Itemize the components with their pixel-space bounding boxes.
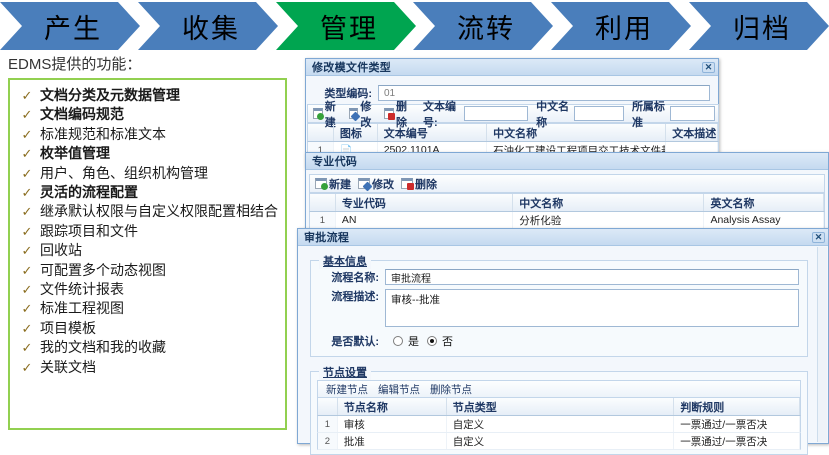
node-toolbar-button[interactable]: 删除节点 <box>430 382 472 397</box>
feature-item: ✓文档编码规范 <box>14 105 281 124</box>
feature-item-label: 关联文档 <box>40 358 281 377</box>
delete-icon <box>384 108 394 119</box>
check-icon: ✓ <box>14 105 40 124</box>
new-icon <box>313 108 323 119</box>
feature-item: ✓关联文档 <box>14 358 281 377</box>
process-step-1: 产生 <box>0 2 140 50</box>
radio-no-label: 否 <box>442 333 453 349</box>
edit-button-label: 修改 <box>372 176 394 192</box>
feature-item: ✓跟踪项目和文件 <box>14 222 281 241</box>
check-icon: ✓ <box>14 241 40 260</box>
feature-item: ✓标准规范和标准文本 <box>14 125 281 144</box>
check-icon: ✓ <box>14 299 40 318</box>
column-header[interactable]: 节点名称 <box>338 398 447 415</box>
process-step-label: 利用 <box>589 7 653 46</box>
file-type-toolbar[interactable]: 新建 修改 删除 文本编号: 中文名称 所属标准 <box>307 104 719 123</box>
table-row[interactable]: 2批准自定义一票通过/一票否决 <box>317 433 801 450</box>
check-icon: ✓ <box>14 319 40 338</box>
table-cell: 自定义 <box>447 433 675 449</box>
node-header: 节点名称节点类型判断规则 <box>317 397 801 416</box>
column-header[interactable] <box>310 194 336 211</box>
features-panel: EDMS提供的功能： ✓文档分类及元数据管理✓文档编码规范✓标准规范和标准文本✓… <box>8 56 293 430</box>
dialog-specialty-title: 专业代码 <box>312 153 825 169</box>
feature-item: ✓回收站 <box>14 241 281 260</box>
process-step-4: 流转 <box>413 2 553 50</box>
node-toolbar-button[interactable]: 新建节点 <box>326 382 368 397</box>
feature-item-label: 跟踪项目和文件 <box>40 222 281 241</box>
column-header[interactable]: 中文名称 <box>487 124 666 141</box>
dialog-workflow-titlebar[interactable]: 审批流程 ✕ <box>298 229 828 246</box>
delete-button[interactable]: 删除 <box>399 176 439 192</box>
flow-name-label: 流程名称: <box>319 269 385 285</box>
column-header[interactable] <box>308 124 334 141</box>
specialty-toolbar[interactable]: 新建 修改 删除 <box>309 174 825 193</box>
dialog-file-type-titlebar[interactable]: 修改模文件类型 ✕ <box>306 59 718 76</box>
vertical-scrollbar[interactable] <box>817 247 827 442</box>
close-icon[interactable]: ✕ <box>812 232 825 243</box>
process-step-5: 利用 <box>551 2 691 50</box>
table-cell: AN <box>336 212 513 228</box>
edit-button[interactable]: 修改 <box>356 176 396 192</box>
column-header[interactable]: 专业代码 <box>336 194 513 211</box>
dialog-workflow[interactable]: 审批流程 ✕ 基本信息 流程名称: 审批流程 流程描述: 审核--批准 是否默认… <box>297 228 829 444</box>
dialog-file-type-title: 修改模文件类型 <box>312 59 702 75</box>
table-cell: 1 <box>310 212 336 228</box>
check-icon: ✓ <box>14 280 40 299</box>
basic-info-group: 基本信息 流程名称: 审批流程 流程描述: 审核--批准 是否默认: 是 否 <box>310 260 808 357</box>
column-header[interactable]: 判断规则 <box>674 398 800 415</box>
node-toolbar[interactable]: 新建节点编辑节点删除节点 <box>317 380 801 397</box>
check-icon: ✓ <box>14 86 40 105</box>
feature-item: ✓用户、角色、组织机构管理 <box>14 164 281 183</box>
feature-item-label: 我的文档和我的收藏 <box>40 338 281 357</box>
new-button[interactable]: 新建 <box>313 176 353 192</box>
feature-item-label: 回收站 <box>40 241 281 260</box>
column-header[interactable]: 文本编号 <box>378 124 487 141</box>
table-row[interactable]: 1审核自定义一票通过/一票否决 <box>317 416 801 433</box>
specialty-grid[interactable]: 专业代码中文名称英文名称1AN分析化验Analysis Assay <box>309 193 825 229</box>
feature-list: ✓文档分类及元数据管理✓文档编码规范✓标准规范和标准文本✓枚举值管理✓用户、角色… <box>8 78 287 430</box>
flow-desc-label: 流程描述: <box>319 289 385 305</box>
check-icon: ✓ <box>14 261 40 280</box>
table-cell: 1 <box>318 416 338 432</box>
feature-item-label: 项目模板 <box>40 319 281 338</box>
feature-item-label: 文档编码规范 <box>40 105 281 124</box>
dialog-specialty-titlebar[interactable]: 专业代码 <box>306 153 828 170</box>
edit-icon <box>349 108 359 119</box>
check-icon: ✓ <box>14 338 40 357</box>
node-grid[interactable]: 节点名称节点类型判断规则1审核自定义一票通过/一票否决2批准自定义一票通过/一票… <box>317 397 801 450</box>
check-icon: ✓ <box>14 183 40 202</box>
feature-item-label: 灵活的流程配置 <box>40 183 281 202</box>
feature-item: ✓可配置多个动态视图 <box>14 261 281 280</box>
feature-item: ✓文档分类及元数据管理 <box>14 86 281 105</box>
column-header[interactable]: 中文名称 <box>513 194 704 211</box>
is-default-label: 是否默认: <box>319 333 385 349</box>
feature-item-label: 标准工程视图 <box>40 299 281 318</box>
column-header[interactable] <box>318 398 338 415</box>
feature-item: ✓我的文档和我的收藏 <box>14 338 281 357</box>
process-step-label: 流转 <box>451 7 515 46</box>
feature-item-label: 枚举值管理 <box>40 144 281 163</box>
check-icon: ✓ <box>14 222 40 241</box>
flow-name-input[interactable]: 审批流程 <box>385 269 799 285</box>
process-step-label: 收集 <box>176 7 240 46</box>
feature-item: ✓枚举值管理 <box>14 144 281 163</box>
process-step-2: 收集 <box>138 2 278 50</box>
node-settings-group: 节点设置 新建节点编辑节点删除节点 节点名称节点类型判断规则1审核自定义一票通过… <box>310 371 808 455</box>
specialty-header: 专业代码中文名称英文名称 <box>309 193 825 212</box>
check-icon: ✓ <box>14 144 40 163</box>
feature-item-label: 用户、角色、组织机构管理 <box>40 164 281 183</box>
check-icon: ✓ <box>14 358 40 377</box>
table-cell: 2 <box>318 433 338 449</box>
feature-item: ✓项目模板 <box>14 319 281 338</box>
radio-no-circle[interactable] <box>427 336 437 346</box>
node-settings-legend: 节点设置 <box>319 364 371 380</box>
radio-no[interactable]: 否 <box>427 333 453 349</box>
delete-button-label: 删除 <box>415 176 437 192</box>
feature-item: ✓继承默认权限与自定义权限配置相结合 <box>14 202 281 221</box>
feature-item-label: 标准规范和标准文本 <box>40 125 281 144</box>
feature-item: ✓文件统计报表 <box>14 280 281 299</box>
new-button-label: 新建 <box>329 176 351 192</box>
node-toolbar-button[interactable]: 编辑节点 <box>378 382 420 397</box>
column-header[interactable]: 图标 <box>334 124 378 141</box>
check-icon: ✓ <box>14 125 40 144</box>
table-cell: 一票通过/一票否决 <box>674 416 800 432</box>
file-type-header: 图标文本编号中文名称文本描述 <box>307 123 719 142</box>
process-banner: 产生收集管理流转利用归档 <box>0 2 829 52</box>
dialog-workflow-title: 审批流程 <box>304 229 812 245</box>
column-header[interactable]: 英文名称 <box>704 194 824 211</box>
cn-name-input[interactable] <box>574 106 624 121</box>
basic-info-legend: 基本信息 <box>319 253 371 269</box>
feature-item: ✓标准工程视图 <box>14 299 281 318</box>
text-no-input[interactable] <box>464 106 528 121</box>
column-header[interactable]: 文本描述 <box>666 124 718 141</box>
feature-item: ✓灵活的流程配置 <box>14 183 281 202</box>
feature-item-label: 文件统计报表 <box>40 280 281 299</box>
process-step-3: 管理 <box>276 2 416 50</box>
table-cell: 一票通过/一票否决 <box>674 433 800 449</box>
check-icon: ✓ <box>14 202 40 221</box>
delete-icon <box>401 178 413 189</box>
table-cell: 自定义 <box>447 416 675 432</box>
table-row[interactable]: 1AN分析化验Analysis Assay <box>309 212 825 229</box>
table-cell: Analysis Assay <box>704 212 824 228</box>
check-icon: ✓ <box>14 164 40 183</box>
standard-input[interactable] <box>670 106 715 121</box>
process-step-6: 归档 <box>689 2 829 50</box>
table-cell: 分析化验 <box>513 212 704 228</box>
feature-item-label: 可配置多个动态视图 <box>40 261 281 280</box>
edms-caption: EDMS提供的功能： <box>8 56 293 74</box>
feature-item-label: 继承默认权限与自定义权限配置相结合 <box>40 202 281 221</box>
process-step-label: 管理 <box>314 7 378 46</box>
process-step-label: 归档 <box>727 7 791 46</box>
radio-yes[interactable]: 是 <box>393 333 419 349</box>
process-step-label: 产生 <box>38 7 102 46</box>
column-header[interactable]: 节点类型 <box>447 398 675 415</box>
close-icon[interactable]: ✕ <box>702 62 715 73</box>
feature-item-label: 文档分类及元数据管理 <box>40 86 281 105</box>
edit-icon <box>358 178 370 189</box>
flow-desc-textarea[interactable]: 审核--批准 <box>385 289 799 327</box>
table-cell: 批准 <box>338 433 447 449</box>
new-icon <box>315 178 327 189</box>
table-cell: 审核 <box>338 416 447 432</box>
radio-yes-label: 是 <box>408 333 419 349</box>
radio-yes-circle[interactable] <box>393 336 403 346</box>
